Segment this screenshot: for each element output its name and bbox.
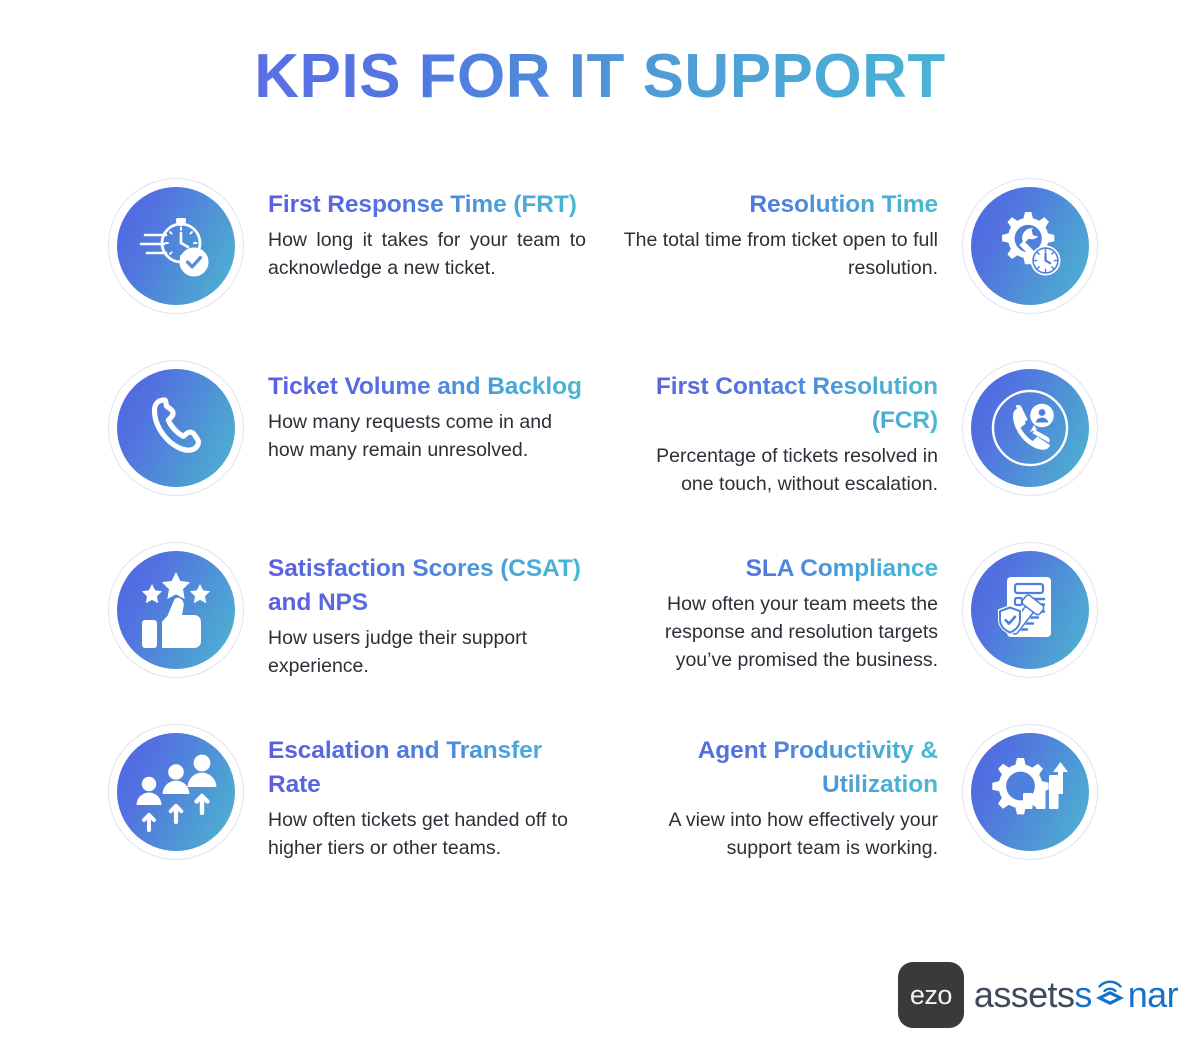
kpi-description: How users judge their support experience…	[268, 624, 586, 680]
kpi-card-satisfaction-scores: Satisfaction Scores (CSAT) and NPS How u…	[108, 536, 586, 718]
kpi-description: How often tickets get handed off to high…	[268, 806, 586, 862]
icon-circle	[117, 369, 235, 487]
kpi-title: Resolution Time	[620, 188, 938, 222]
ezo-logo-mark: ezo	[898, 962, 964, 1028]
infographic-page: KPIs for IT Support	[0, 0, 1200, 1050]
kpi-title: First Response Time (FRT)	[268, 188, 586, 222]
kpi-card-escalation-transfer-rate: Escalation and Transfer Rate How often t…	[108, 718, 586, 900]
page-title-wrapper: KPIs for IT Support	[0, 44, 1200, 109]
stopwatch-check-icon-badge	[108, 178, 244, 314]
wordmark-nar: nar	[1128, 974, 1178, 1016]
people-escalation-arrows-icon	[134, 752, 218, 832]
gear-wrench-clock-icon-badge	[962, 178, 1098, 314]
contract-gavel-shield-icon	[993, 573, 1067, 647]
ezo-logo-text: ezo	[910, 980, 952, 1011]
kpi-title: Agent Productivity & Utilization	[620, 734, 938, 802]
gear-bar-chart-arrow-icon-badge	[962, 724, 1098, 860]
kpi-description: How many requests come in and how many r…	[268, 408, 586, 464]
phone-agent-icon-badge	[962, 360, 1098, 496]
kpi-grid: First Response Time (FRT) How long it ta…	[108, 172, 1098, 900]
icon-circle	[117, 551, 235, 669]
card-text: First Response Time (FRT) How long it ta…	[262, 172, 586, 282]
icon-circle	[117, 187, 235, 305]
card-text: Resolution Time The total time from tick…	[620, 172, 944, 282]
stopwatch-check-icon	[139, 209, 213, 283]
card-text: Ticket Volume and Backlog How many reque…	[262, 354, 586, 464]
card-text: First Contact Resolution (FCR) Percentag…	[620, 354, 944, 498]
kpi-card-agent-productivity: Agent Productivity & Utilization A view …	[620, 718, 1098, 900]
kpi-description: A view into how effectively your support…	[620, 806, 938, 862]
kpi-description: The total time from ticket open to full …	[620, 226, 938, 282]
kpi-title: Satisfaction Scores (CSAT) and NPS	[268, 552, 586, 620]
card-text: SLA Compliance How often your team meets…	[620, 536, 944, 674]
phone-handset-icon-badge	[108, 360, 244, 496]
kpi-title: First Contact Resolution (FCR)	[620, 370, 938, 438]
kpi-title: Ticket Volume and Backlog	[268, 370, 586, 404]
card-text: Satisfaction Scores (CSAT) and NPS How u…	[262, 536, 586, 680]
icon-circle	[971, 187, 1089, 305]
kpi-card-first-response-time: First Response Time (FRT) How long it ta…	[108, 172, 586, 354]
icon-circle	[971, 733, 1089, 851]
contract-gavel-shield-icon-badge	[962, 542, 1098, 678]
thumbs-up-stars-icon	[136, 570, 216, 650]
people-escalation-arrows-icon-badge	[108, 724, 244, 860]
kpi-description: How long it takes for your team to ackno…	[268, 226, 586, 282]
kpi-title: SLA Compliance	[620, 552, 938, 586]
card-text: Agent Productivity & Utilization A view …	[620, 718, 944, 862]
phone-handset-icon	[142, 394, 210, 462]
assetsonar-wordmark: assets s nar	[974, 974, 1178, 1016]
brand-logo: ezo assets s nar	[898, 962, 1178, 1028]
icon-circle	[117, 733, 235, 851]
kpi-card-ticket-volume-backlog: Ticket Volume and Backlog How many reque…	[108, 354, 586, 536]
gear-bar-chart-arrow-icon	[990, 754, 1070, 830]
kpi-card-first-contact-resolution: First Contact Resolution (FCR) Percentag…	[620, 354, 1098, 536]
wordmark-s: s	[1074, 974, 1091, 1016]
kpi-card-sla-compliance: SLA Compliance How often your team meets…	[620, 536, 1098, 718]
thumbs-up-stars-icon-badge	[108, 542, 244, 678]
kpi-description: How often your team meets the response a…	[620, 590, 938, 674]
kpi-description: Percentage of tickets resolved in one to…	[620, 442, 938, 498]
gear-wrench-clock-icon	[992, 208, 1068, 284]
card-text: Escalation and Transfer Rate How often t…	[262, 718, 586, 862]
icon-circle	[971, 551, 1089, 669]
page-title: KPIs for IT Support	[254, 44, 946, 109]
kpi-title: Escalation and Transfer Rate	[268, 734, 586, 802]
icon-circle	[971, 369, 1089, 487]
phone-agent-icon	[980, 378, 1080, 478]
sonar-box-icon	[1093, 976, 1127, 1018]
kpi-card-resolution-time: Resolution Time The total time from tick…	[620, 172, 1098, 354]
wordmark-assets: assets	[974, 974, 1074, 1016]
